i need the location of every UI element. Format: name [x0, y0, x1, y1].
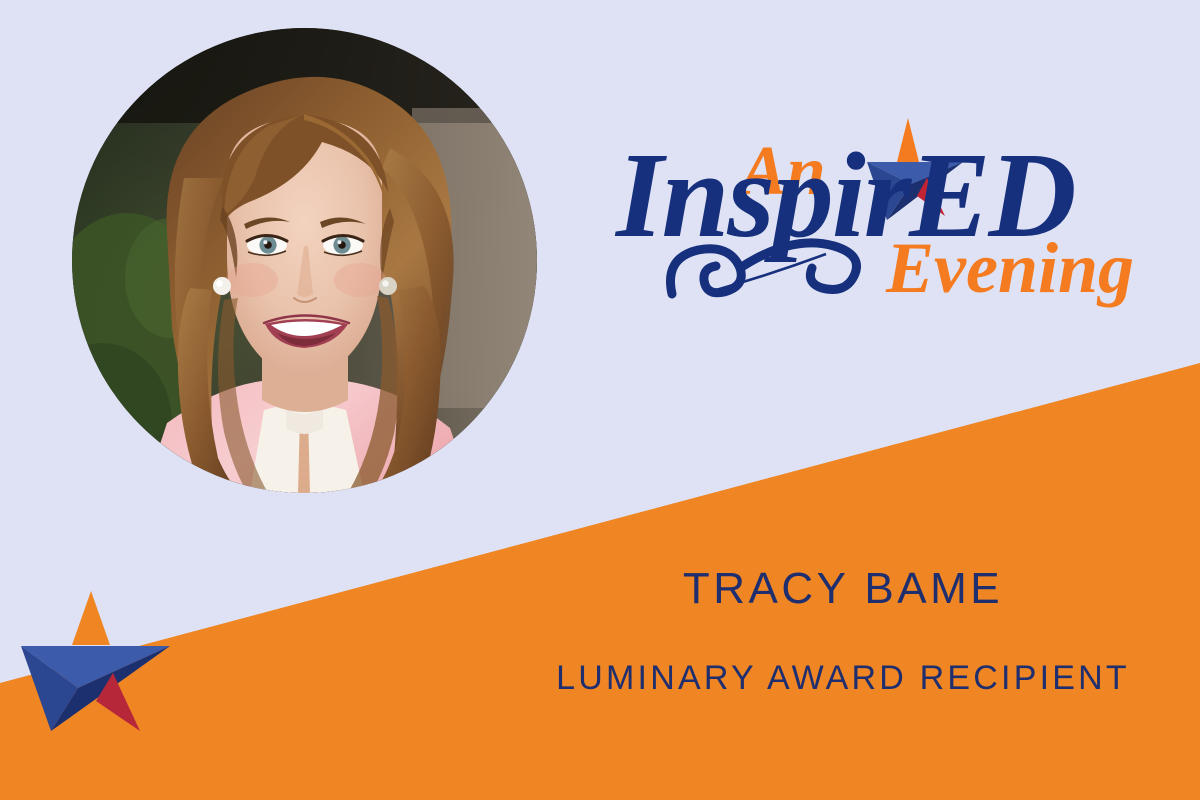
event-logo: .navy { fill:#17307d; } .orng { fill:#f4… [612, 108, 1132, 308]
avatar [72, 28, 537, 493]
corner-star-icon [18, 583, 173, 733]
logo-word-evening: Evening [885, 228, 1134, 308]
poster-canvas: .navy { fill:#17307d; } .orng { fill:#f4… [0, 0, 1200, 800]
